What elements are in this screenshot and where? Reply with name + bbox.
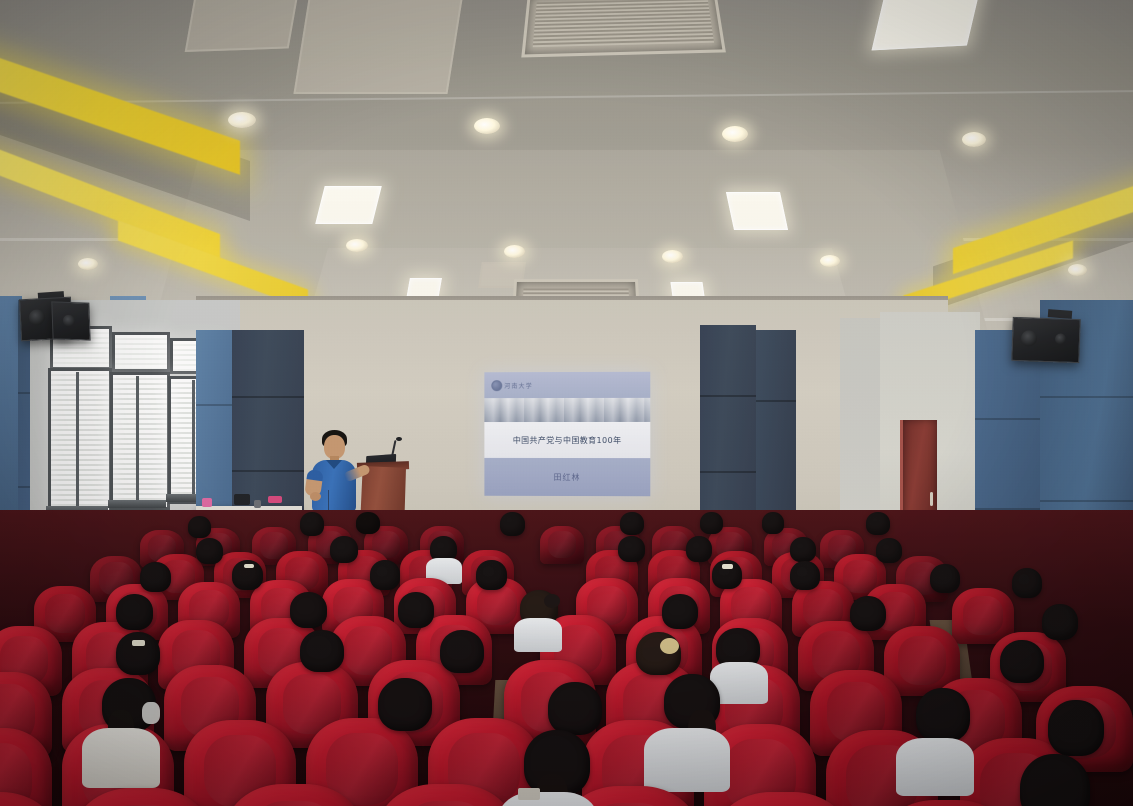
panel-seam [700, 395, 756, 397]
hair-bun [544, 594, 560, 608]
audience-member [618, 536, 645, 562]
pink-object [202, 498, 212, 507]
ceiling-coffer-edge [0, 90, 1133, 104]
window-sill [108, 500, 166, 508]
panel-seam [232, 470, 304, 472]
audience-member [440, 630, 484, 673]
presenter-left-hand [310, 492, 321, 501]
audience-member [1042, 604, 1078, 640]
audience-member [686, 536, 712, 562]
audience-member [356, 512, 380, 534]
hair-scrunchie [660, 638, 679, 654]
flat-panel-light [315, 186, 381, 224]
ac-grille-icon [533, 0, 714, 47]
recessed-downlight [1068, 264, 1087, 276]
audience-seating-area [0, 510, 1133, 806]
recessed-downlight [346, 239, 368, 252]
small-item [518, 788, 540, 800]
wall-mounted-loudspeaker [51, 301, 90, 340]
audience-member [476, 560, 507, 590]
panel-seam [1040, 396, 1133, 398]
audience-member [876, 538, 902, 563]
audience-member [330, 536, 358, 563]
panel-seam [700, 471, 756, 473]
small-device [254, 500, 261, 508]
speaker-cone-icon [1021, 330, 1038, 347]
slide-photo-band [484, 398, 650, 422]
audience-member [1048, 700, 1104, 756]
audience-member [116, 632, 160, 675]
window-with-venetian-blinds [110, 372, 170, 510]
panel-seam [756, 400, 796, 402]
slide-logo-text: 河南大学 [504, 381, 533, 390]
audience-member [790, 561, 820, 590]
audience-member [370, 560, 400, 590]
pink-object [268, 496, 282, 503]
window-with-venetian-blinds [48, 368, 112, 516]
slide-title: 中国共产党与中国教育100年 [513, 434, 622, 445]
audience-member [762, 512, 784, 534]
audience-member [500, 512, 525, 536]
face-mask [142, 702, 160, 724]
presentation-slide: 河南大学 中国共产党与中国教育100年 田红林 [484, 372, 650, 497]
audience-member-torso [514, 618, 562, 652]
window-mullion [76, 372, 79, 508]
audience-member-torso [644, 728, 730, 792]
audience-member [866, 512, 890, 535]
slide-presenter-name: 田红林 [554, 471, 581, 482]
recessed-downlight [504, 245, 525, 258]
audience-member [196, 538, 223, 564]
speaker-cone-icon [63, 315, 75, 327]
audience-member [548, 682, 602, 735]
audience-member [398, 592, 434, 628]
audience-member [620, 512, 644, 535]
flat-panel-light [872, 0, 981, 50]
audience-member [850, 596, 886, 631]
hair-clip [132, 640, 145, 646]
speaker-cone-icon [28, 309, 45, 326]
audience-member [300, 512, 324, 536]
microphone-head-icon [396, 437, 402, 441]
audience-member [790, 537, 816, 562]
audience-member [916, 688, 970, 742]
audience-member [140, 562, 171, 592]
audience-member [1000, 640, 1044, 683]
wall-mounted-loudspeaker [1011, 317, 1080, 363]
hair-clip [244, 564, 254, 568]
slide-header-band: 河南大学 [484, 372, 650, 398]
panel-seam [232, 396, 304, 398]
dark-equipment [234, 494, 250, 505]
recessed-downlight [662, 250, 683, 263]
recessed-downlight [474, 118, 500, 134]
window-with-venetian-blinds [112, 332, 170, 372]
recessed-downlight [722, 126, 748, 142]
audience-member [662, 594, 698, 629]
speaker-tweeter-icon [1055, 333, 1066, 344]
door-handle-icon[interactable] [930, 492, 933, 506]
audience-member [188, 516, 211, 538]
recessed-downlight [962, 132, 986, 147]
ceiling-ac-cassette [521, 0, 726, 58]
recessed-downlight [820, 255, 840, 267]
audience-member [930, 564, 960, 593]
ceiling-diffuser-panel [293, 0, 464, 94]
recessed-downlight [228, 112, 256, 128]
slide-footer-band: 田红林 [484, 458, 650, 496]
university-emblem-icon [491, 380, 502, 391]
projection-screen: 河南大学 中国共产党与中国教育100年 田红林 [484, 372, 650, 497]
panel-seam [975, 418, 1043, 420]
audience-member [290, 592, 327, 628]
hair-clip [722, 564, 733, 569]
window-mullion [136, 376, 139, 502]
audience-member [1012, 568, 1042, 598]
recessed-downlight [78, 258, 98, 270]
audience-member [116, 594, 153, 630]
audience-member [378, 678, 432, 731]
audience-member-torso [896, 738, 974, 796]
panel-seam [1040, 500, 1133, 502]
ceiling-diffuser-panel [185, 0, 300, 52]
slide-title-band: 中国共产党与中国教育100年 [484, 422, 650, 458]
flat-panel-light [726, 192, 788, 230]
audience-member [700, 512, 723, 534]
seat[interactable] [540, 526, 584, 564]
audience-member [300, 630, 344, 672]
audience-member-torso [82, 728, 160, 788]
lecture-hall-photo: 河南大学 中国共产党与中国教育100年 田红林 [0, 0, 1133, 806]
window-mullion [192, 380, 195, 496]
